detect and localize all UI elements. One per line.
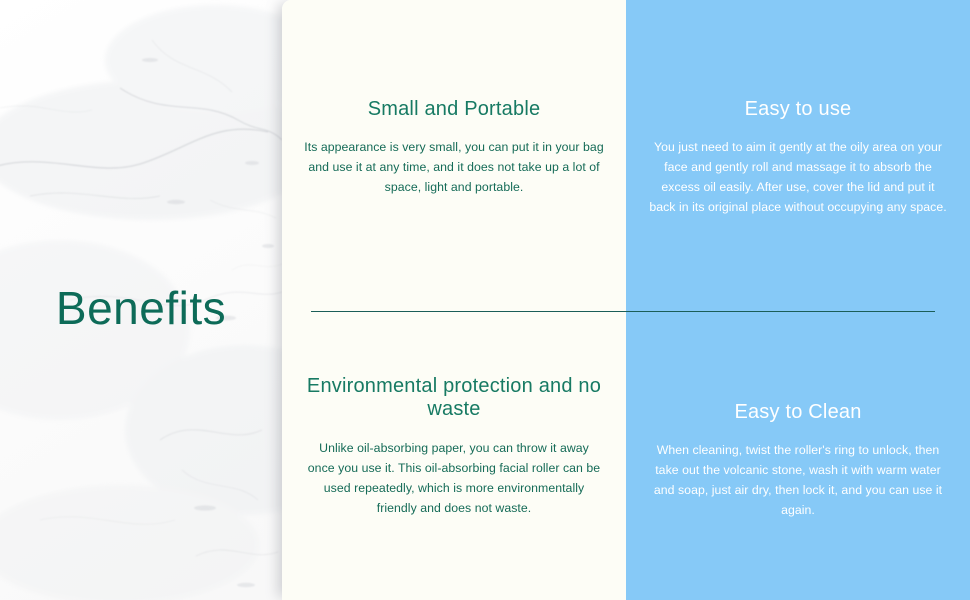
panel-content: Easy to use You just need to aim it gent… (648, 98, 948, 217)
panel-heading: Environmental protection and no waste (304, 375, 604, 421)
panel-content: Environmental protection and no waste Un… (304, 375, 604, 518)
section-title: Benefits (0, 276, 282, 340)
panel-content: Small and Portable Its appearance is ver… (304, 98, 604, 197)
benefit-panel-environmental-protection: Environmental protection and no waste Un… (282, 300, 626, 600)
panel-body: Unlike oil-absorbing paper, you can thro… (304, 438, 604, 518)
benefits-infographic: Benefits Small and Portable Its appearan… (0, 0, 970, 600)
panel-heading: Easy to use (648, 98, 948, 121)
horizontal-divider (311, 311, 935, 312)
panel-body: Its appearance is very small, you can pu… (304, 137, 604, 197)
panel-body: You just need to aim it gently at the oi… (648, 137, 948, 217)
panel-heading: Small and Portable (304, 98, 604, 121)
benefit-panel-easy-to-clean: Easy to Clean When cleaning, twist the r… (626, 300, 970, 600)
panel-body: When cleaning, twist the roller's ring t… (648, 440, 948, 520)
panel-heading: Easy to Clean (648, 401, 948, 424)
benefits-card: Small and Portable Its appearance is ver… (282, 0, 970, 600)
benefit-panel-small-and-portable: Small and Portable Its appearance is ver… (282, 0, 626, 300)
panel-content: Easy to Clean When cleaning, twist the r… (648, 401, 948, 520)
benefit-panel-easy-to-use: Easy to use You just need to aim it gent… (626, 0, 970, 300)
